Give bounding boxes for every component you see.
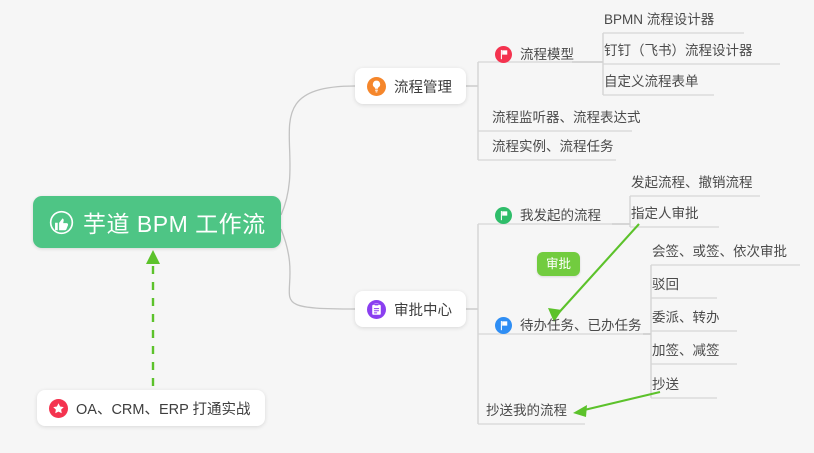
subnode-liucheng-moxing[interactable]: 流程模型 bbox=[494, 45, 574, 69]
leaf-custom-form[interactable]: 自定义流程表单 bbox=[604, 73, 699, 96]
leaf-bohui[interactable]: 驳回 bbox=[652, 276, 679, 299]
callout-chip-shenpi[interactable]: 审批 bbox=[537, 252, 580, 276]
leaf-label: 抄送我的流程 bbox=[486, 402, 567, 420]
leaf-label: 流程监听器、流程表达式 bbox=[492, 109, 641, 127]
flag-green-icon bbox=[494, 206, 513, 225]
arrow-oa-head bbox=[146, 250, 160, 264]
subnode-wo-faqi-de-liucheng[interactable]: 我发起的流程 bbox=[494, 206, 601, 230]
leaf-label: 自定义流程表单 bbox=[604, 73, 699, 91]
leaf-chaosong-wode-liucheng[interactable]: 抄送我的流程 bbox=[486, 402, 567, 425]
leaf-faqi-chexiao[interactable]: 发起流程、撤销流程 bbox=[631, 174, 753, 197]
leaf-label: 驳回 bbox=[652, 276, 679, 294]
flag-red-icon bbox=[494, 45, 513, 64]
leaf-label: 钉钉（飞书）流程设计器 bbox=[604, 42, 753, 60]
leaf-zhidingren-shenpi[interactable]: 指定人审批 bbox=[631, 205, 699, 228]
subnode-label: 流程模型 bbox=[520, 46, 574, 64]
leaf-label: BPMN 流程设计器 bbox=[604, 11, 714, 29]
leaf-label: 指定人审批 bbox=[631, 205, 699, 223]
leaf-listener-expression[interactable]: 流程监听器、流程表达式 bbox=[492, 109, 641, 132]
callout-chip-label: 审批 bbox=[546, 257, 571, 271]
star-icon bbox=[49, 399, 68, 418]
leaf-label: 抄送 bbox=[652, 376, 679, 394]
subnode-label: 待办任务、已办任务 bbox=[520, 317, 642, 335]
flag-blue-icon bbox=[494, 316, 513, 335]
detached-node-oa[interactable]: OA、CRM、ERP 打通实战 bbox=[37, 390, 265, 426]
leaf-chaosong[interactable]: 抄送 bbox=[652, 376, 679, 399]
leaf-label: 委派、转办 bbox=[652, 309, 720, 327]
leaf-weipai-zhuanban[interactable]: 委派、转办 bbox=[652, 309, 720, 332]
clipboard-icon bbox=[367, 300, 386, 319]
detached-node-label: OA、CRM、ERP 打通实战 bbox=[76, 398, 251, 419]
link-root-to-liucheng bbox=[281, 86, 355, 215]
link-root-to-shenpi bbox=[281, 229, 355, 309]
branch-node-shenpi-zhongxin[interactable]: 审批中心 bbox=[355, 291, 466, 327]
leaf-dingding-designer[interactable]: 钉钉（飞书）流程设计器 bbox=[604, 42, 753, 65]
leaf-instance-task[interactable]: 流程实例、流程任务 bbox=[492, 138, 614, 161]
lightbulb-icon bbox=[367, 77, 386, 96]
arrow-chaosong-head bbox=[573, 405, 587, 417]
leaf-label: 会签、或签、依次审批 bbox=[652, 243, 787, 261]
leaf-huiqian-huoqian[interactable]: 会签、或签、依次审批 bbox=[652, 243, 787, 266]
subnode-label: 我发起的流程 bbox=[520, 207, 601, 225]
branch-label-liucheng-guanli: 流程管理 bbox=[394, 76, 452, 97]
leaf-jiaqian-jianqian[interactable]: 加签、减签 bbox=[652, 342, 720, 365]
root-node[interactable]: 芋道 BPM 工作流 bbox=[33, 196, 281, 248]
leaf-label: 加签、减签 bbox=[652, 342, 720, 360]
leaf-label: 流程实例、流程任务 bbox=[492, 138, 614, 156]
leaf-label: 发起流程、撤销流程 bbox=[631, 174, 753, 192]
root-label: 芋道 BPM 工作流 bbox=[83, 205, 266, 239]
arrow-chaosong-line bbox=[580, 392, 660, 411]
branch-label-shenpi-zhongxin: 审批中心 bbox=[394, 299, 452, 320]
mindmap-canvas: 芋道 BPM 工作流 OA、CRM、ERP 打通实战 流程管理 bbox=[0, 0, 814, 453]
branch-node-liucheng-guanli[interactable]: 流程管理 bbox=[355, 68, 466, 104]
subnode-daiban-yiban-renwu[interactable]: 待办任务、已办任务 bbox=[494, 316, 642, 340]
thumbs-up-icon bbox=[49, 210, 74, 235]
leaf-bpmn-designer[interactable]: BPMN 流程设计器 bbox=[604, 11, 714, 34]
